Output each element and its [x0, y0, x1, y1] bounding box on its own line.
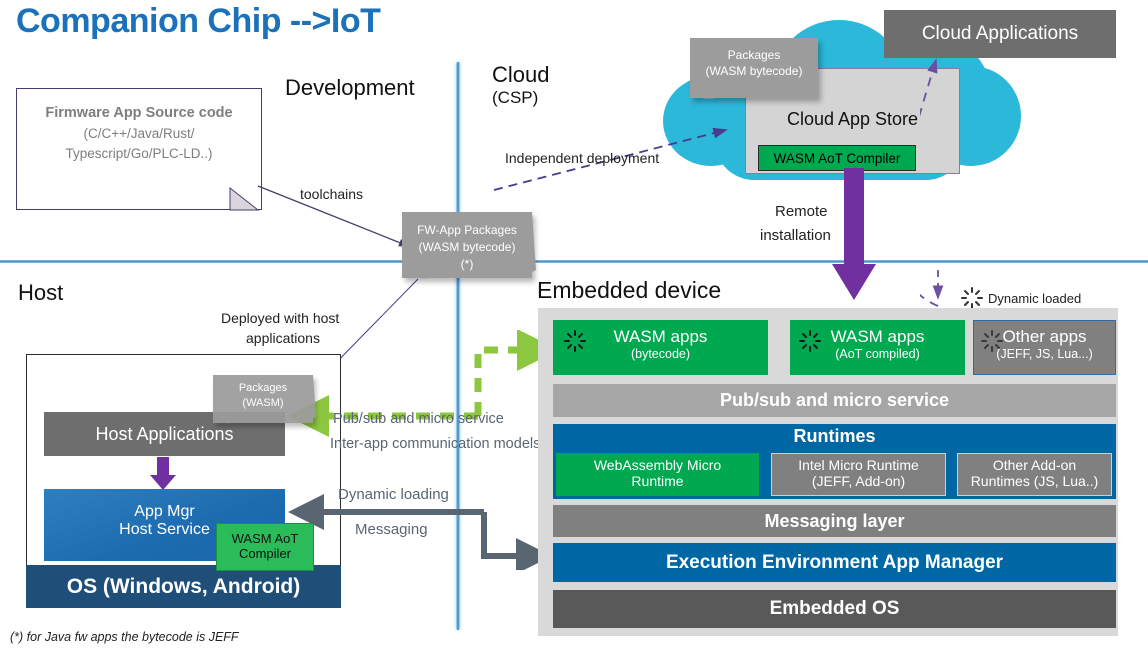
- dynamic-loaded-dashed-arrow: [920, 48, 990, 313]
- label-deployed-line1: Deployed with host: [221, 310, 339, 326]
- pubsub-green-arrows: [282, 330, 550, 450]
- embedded-runtime-box-0[interactable]: WebAssembly Micro Runtime: [556, 453, 759, 496]
- label-toolchains: toolchains: [300, 186, 363, 202]
- embedded-messaging-layer-bar[interactable]: Messaging layer: [553, 505, 1116, 537]
- embedded-app-box-1[interactable]: WASM apps (AoT compiled): [790, 320, 965, 375]
- embedded-runtime-line2-2: Runtimes (JS, Lua..): [958, 473, 1111, 489]
- embedded-runtime-line2-1: (JEFF, Add-on): [772, 473, 945, 489]
- embedded-pubsub-label: Pub/sub and micro service: [720, 390, 949, 411]
- label-pubsub: Pub/sub and micro service: [333, 411, 504, 427]
- section-header-host: Host: [18, 280, 63, 306]
- remote-installation-arrow: [830, 168, 878, 304]
- fw-packages-line2: (WASM bytecode): [402, 239, 532, 256]
- cloud-packages-callout: Packages (WASM bytecode): [690, 38, 818, 98]
- firmware-source-heading: Firmware App Source code: [17, 105, 261, 121]
- cloud-applications-box[interactable]: Cloud Applications: [884, 10, 1116, 58]
- host-aot-line1: WASM AoT: [217, 531, 313, 546]
- label-remote-installation-line1: Remote: [775, 203, 828, 220]
- section-header-cloud: Cloud (CSP): [492, 62, 549, 108]
- host-os-label: OS (Windows, Android): [67, 575, 301, 599]
- host-packages-line1: Packages: [213, 381, 313, 396]
- embedded-runtime-box-2[interactable]: Other Add-on Runtimes (JS, Lua..): [957, 453, 1112, 496]
- embedded-app-manager-bar[interactable]: Execution Environment App Manager: [553, 543, 1116, 582]
- spinner-icon: [563, 329, 587, 353]
- embedded-os-label: Embedded OS: [770, 598, 900, 620]
- host-packages-callout: Packages (WASM): [213, 375, 313, 423]
- embedded-app-box-0[interactable]: WASM apps (bytecode): [553, 320, 768, 375]
- embedded-runtime-line2-0: Runtime: [556, 473, 759, 489]
- label-remote-installation-line2: installation: [760, 227, 831, 244]
- embedded-runtime-line1-2: Other Add-on: [958, 457, 1111, 473]
- embedded-runtime-line1-0: WebAssembly Micro: [556, 457, 759, 473]
- host-flow-arrow: [148, 457, 178, 491]
- embedded-messaging-layer-label: Messaging layer: [764, 511, 904, 532]
- firmware-source-line1: (C/C++/Java/Rust/: [17, 124, 261, 144]
- embedded-runtimes-title: Runtimes: [553, 426, 1116, 447]
- label-interapp: Inter-app communication models: [330, 436, 540, 452]
- footnote: (*) for Java fw apps the bytecode is JEF…: [10, 630, 239, 644]
- label-independent-deployment: Independent deployment: [505, 150, 659, 166]
- section-header-embedded: Embedded device: [537, 277, 721, 304]
- app-mgr-line1: App Mgr: [44, 503, 285, 521]
- embedded-app-box-2[interactable]: Other apps (JEFF, JS, Lua...): [973, 320, 1116, 375]
- cloud-aot-compiler-label: WASM AoT Compiler: [774, 151, 901, 166]
- firmware-source-line2: Typescript/Go/PLC-LD..): [17, 144, 261, 164]
- spinner-icon: [798, 329, 822, 353]
- cloud-packages-line2: (WASM bytecode): [690, 63, 818, 79]
- host-os-box[interactable]: OS (Windows, Android): [26, 565, 341, 608]
- cloud-sublabel: (CSP): [492, 88, 549, 108]
- embedded-runtime-line1-1: Intel Micro Runtime: [772, 457, 945, 473]
- label-dynamic-loaded: Dynamic loaded: [988, 291, 1081, 306]
- cloud-packages-line1: Packages: [690, 47, 818, 63]
- page-title: Companion Chip -->IoT: [16, 2, 380, 41]
- host-aot-line2: Compiler: [217, 546, 313, 561]
- firmware-source-box: Firmware App Source code (C/C++/Java/Rus…: [16, 88, 262, 210]
- label-messaging: Messaging: [355, 521, 428, 538]
- embedded-runtime-box-1[interactable]: Intel Micro Runtime (JEFF, Add-on): [771, 453, 946, 496]
- embedded-app-manager-label: Execution Environment App Manager: [666, 552, 1003, 574]
- label-dynamic-loading: Dynamic loading: [338, 486, 449, 503]
- spinner-icon: [980, 329, 1004, 353]
- fw-packages-line3: (*): [402, 256, 532, 273]
- embedded-os-bar[interactable]: Embedded OS: [553, 590, 1116, 628]
- host-aot-compiler-box[interactable]: WASM AoT Compiler: [216, 523, 314, 571]
- cloud-label: Cloud: [492, 62, 549, 87]
- cloud-applications-label: Cloud Applications: [922, 23, 1078, 45]
- fw-packages-line1: FW-App Packages: [402, 222, 532, 239]
- section-header-development: Development: [285, 75, 415, 101]
- dynamic-loaded-spinner-icon: [960, 286, 984, 310]
- fw-app-packages-callout: FW-App Packages (WASM bytecode) (*): [402, 212, 532, 278]
- embedded-pubsub-bar[interactable]: Pub/sub and micro service: [553, 384, 1116, 417]
- host-packages-line2: (WASM): [213, 396, 313, 411]
